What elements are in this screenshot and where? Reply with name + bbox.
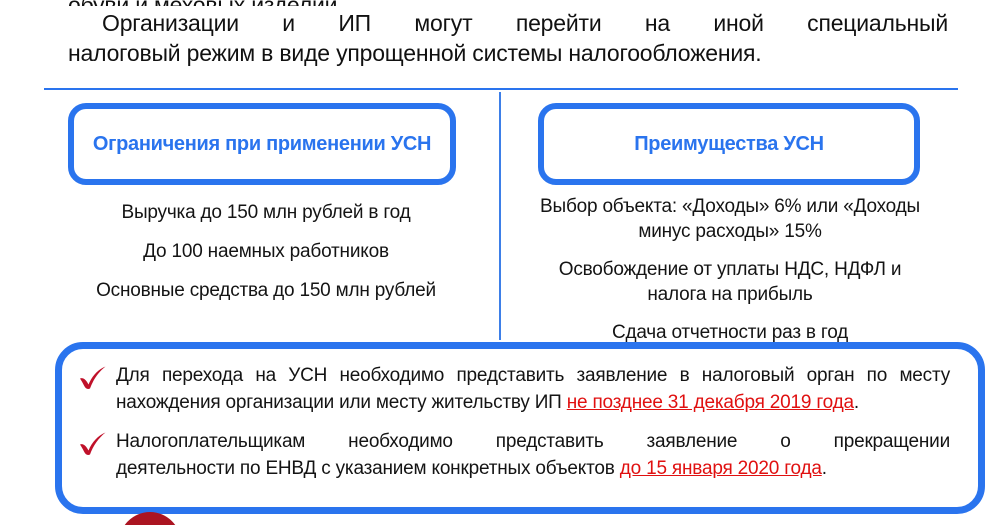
right-column-header-label: Преимущества УСН	[622, 132, 836, 157]
list-item: Налогоплательщикам необходимо представит…	[78, 428, 950, 482]
intro-line-1: Организации и ИП могут перейти на иной с…	[68, 8, 948, 38]
deadline-line-2-suffix: .	[854, 392, 859, 413]
right-column-header-box: Преимущества УСН	[538, 103, 920, 185]
deadline-line-1: Налогоплательщикам необходимо представит…	[116, 428, 950, 455]
list-item-line: Освобождение от уплаты НДС, НДФЛ и	[524, 257, 936, 282]
list-item: Выручка до 150 млн рублей в год	[60, 200, 472, 225]
deadline-text: Для перехода на УСН необходимо представи…	[116, 362, 950, 416]
deadline-line-2-prefix: нахождения организации или месту жительс…	[116, 392, 567, 413]
vertical-divider	[499, 92, 501, 340]
list-item-line: налога на прибыль	[524, 282, 936, 307]
check-icon	[78, 366, 112, 395]
left-column-header-box: Ограничения при применении УСН	[68, 103, 456, 185]
deadline-date-highlight: не позднее 31 декабря 2019 года	[567, 392, 854, 413]
right-column-list: Выбор объекта: «Доходы» 6% или «Доходы м…	[524, 194, 936, 358]
list-item: Для перехода на УСН необходимо представи…	[78, 362, 950, 416]
deadline-line-2-prefix: деятельности по ЕНВД с указанием конкрет…	[116, 458, 620, 479]
deadline-line-2: деятельности по ЕНВД с указанием конкрет…	[116, 455, 950, 482]
deadlines-list: Для перехода на УСН необходимо представи…	[78, 362, 950, 494]
intro-line-1-text: Организации и ИП могут перейти на иной с…	[102, 10, 948, 36]
list-item: Основные средства до 150 млн рублей	[60, 278, 472, 303]
left-column-list: Выручка до 150 млн рублей в год До 100 н…	[60, 200, 472, 317]
intro-line-2: налоговый режим в виде упрощенной систем…	[68, 38, 948, 68]
list-item: До 100 наемных работников	[60, 239, 472, 264]
intro-clipped-line: обуви и меховых изделий.	[68, 0, 948, 6]
infographic-page: обуви и меховых изделий. Организации и И…	[0, 0, 1000, 525]
deadline-date-highlight: до 15 января 2020 года	[620, 458, 822, 479]
deadline-line-2-suffix: .	[822, 458, 827, 479]
intro-paragraph: обуви и меховых изделий. Организации и И…	[68, 0, 948, 68]
deadline-text: Налогоплательщикам необходимо представит…	[116, 428, 950, 482]
horizontal-divider	[44, 88, 958, 90]
check-icon	[78, 432, 112, 461]
deadline-line-1: Для перехода на УСН необходимо представи…	[116, 362, 950, 389]
left-column-header-label: Ограничения при применении УСН	[81, 132, 443, 157]
list-item-line: минус расходы» 15%	[524, 219, 936, 244]
list-item-line: Выбор объекта: «Доходы» 6% или «Доходы	[524, 194, 936, 219]
deadline-line-2: нахождения организации или месту жительс…	[116, 389, 950, 416]
